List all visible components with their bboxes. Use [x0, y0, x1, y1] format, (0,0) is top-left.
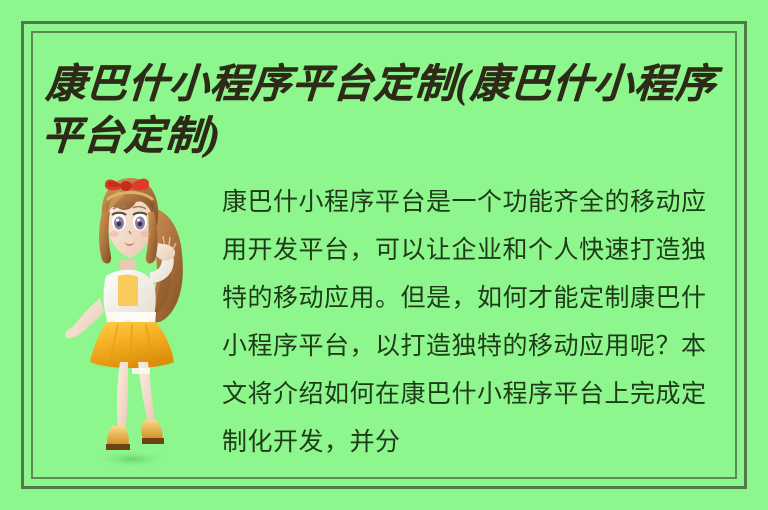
shoe-left [107, 426, 129, 446]
blush-right [140, 231, 150, 237]
page-title: 康巴什小程序平台定制(康巴什小程序平台定制) [40, 58, 737, 162]
poster-page: 康巴什小程序平台定制(康巴什小程序平台定制) 康巴什小程序平台是一个功能齐全的移… [0, 0, 768, 510]
shoe-right-sole [142, 438, 164, 444]
shoe-right [141, 420, 163, 440]
character-illustration [62, 172, 212, 470]
shoe-left-sole [106, 444, 130, 450]
blush-left [109, 231, 119, 237]
inner-top [118, 275, 138, 306]
leg-left [117, 362, 128, 432]
article-body-text: 康巴什小程序平台是一个功能齐全的移动应用开发平台，可以让企业和个人快速打造独特的… [222, 178, 722, 468]
thigh-strap [132, 368, 150, 374]
character-ground-shadow [94, 450, 170, 468]
